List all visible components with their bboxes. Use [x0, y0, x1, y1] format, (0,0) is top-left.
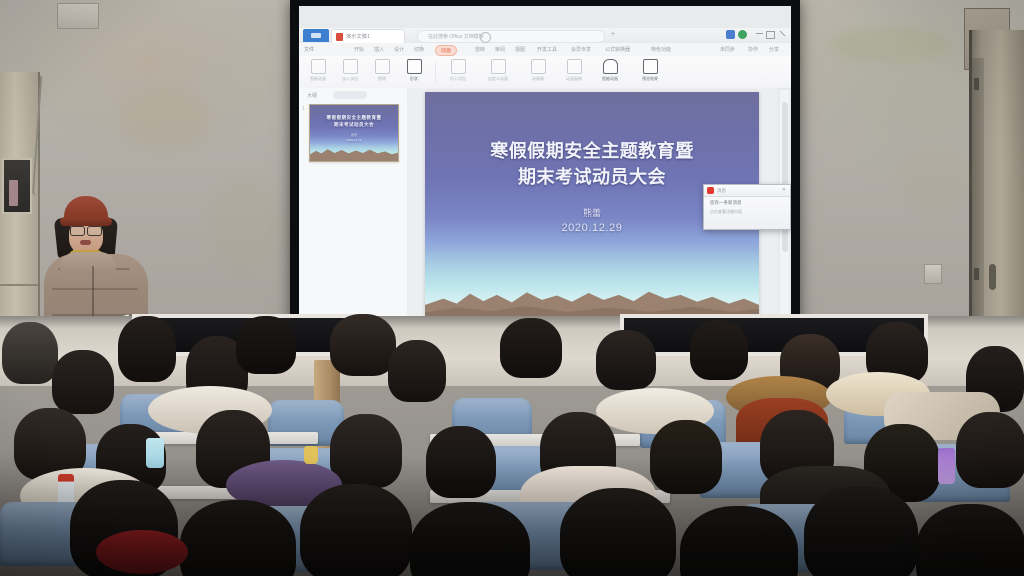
audience-head — [330, 314, 396, 376]
popup-title: 消息 — [717, 188, 726, 194]
coat-collar — [60, 252, 116, 274]
ribbon-button-smart-animation[interactable]: 智能动画 — [305, 59, 331, 82]
left-wall-cabinet — [0, 72, 40, 332]
presentation-file-icon — [336, 33, 343, 41]
hat-brim — [60, 217, 112, 226]
ribbon-tab-member[interactable]: 会员专享 — [571, 46, 591, 53]
thumbnail-date: 2020.12.29 — [310, 138, 398, 142]
cabinet-divider — [0, 284, 38, 286]
ribbon-tab-developer[interactable]: 开发工具 — [537, 46, 557, 53]
wall-light-switch — [924, 264, 942, 284]
ribbon-button-label: 智能动画 — [305, 76, 331, 82]
anim-brush-icon — [531, 59, 546, 74]
ribbon-button-animation-brush[interactable]: 动画刷 — [525, 59, 551, 82]
ribbon-button-preview[interactable]: 预览效果 — [637, 59, 663, 82]
slide-thumbnail-1[interactable]: 寒假假期安全主题教育暨 期末考试动员大会 熊蕾 2020.12.29 — [309, 104, 399, 162]
projected-desktop[interactable]: 演示文稿1 在此搜索 Office 文档模板 + 文件 开始 插入 设计 切换 … — [299, 6, 791, 350]
audience-head — [500, 318, 562, 378]
ribbon-tab-review[interactable]: 审阅 — [495, 46, 505, 53]
audience-head — [2, 322, 58, 384]
ribbon-body[interactable]: 智能动画 淡入淡出 擦除 形状 切入切出 自定义动画 — [299, 56, 791, 89]
ribbon-button-shape[interactable]: 形状 — [401, 59, 427, 82]
ribbon-tab-view[interactable]: 视图 — [515, 46, 525, 53]
thumbnail-slide-number: 1 — [302, 106, 305, 112]
ribbon-button-label: 形状 — [401, 76, 427, 82]
ribbon-tab-strip[interactable]: 文件 开始 插入 设计 切换 动画 放映 审阅 视图 开发工具 会员专享 公式转… — [299, 43, 791, 57]
template-search-box[interactable]: 在此搜索 Office 文档模板 — [417, 30, 605, 43]
ribbon-tab-design[interactable]: 设计 — [394, 46, 404, 53]
ribbon-button-animation-pane[interactable]: 动画窗格 — [561, 59, 587, 82]
shape-icon — [407, 59, 422, 74]
door-handle — [989, 264, 996, 290]
ribbon-tab-features[interactable]: 特色功能 — [651, 46, 671, 53]
ribbon-tab-file[interactable]: 文件 — [304, 46, 314, 53]
minimize-button[interactable] — [756, 33, 763, 34]
wipe-icon — [375, 59, 390, 74]
audience-head — [596, 330, 656, 390]
cut-icon — [451, 59, 466, 74]
ribbon-share[interactable]: 分享 — [769, 46, 779, 53]
popup-title-bar: 消息 ✕ — [704, 185, 790, 197]
template-search-placeholder: 在此搜索 Office 文档模板 — [428, 33, 484, 40]
foreground-shadow — [0, 456, 1024, 576]
wps-logo-icon — [303, 29, 329, 42]
cloud-sync-icon[interactable] — [738, 30, 747, 39]
ribbon-button-label: 自定义动画 — [485, 76, 511, 82]
maximize-button[interactable] — [766, 31, 775, 39]
popup-line-1: 您有一条新消息 — [710, 200, 742, 206]
preview-icon — [643, 59, 658, 74]
wall-vent-panel — [57, 3, 99, 29]
anim-pane-icon — [567, 59, 582, 74]
search-icon — [480, 32, 491, 43]
ribbon-button-custom-animation[interactable]: 自定义动画 — [485, 59, 511, 82]
wps-title-bar: 演示文稿1 在此搜索 Office 文档模板 + — [299, 28, 791, 44]
close-button[interactable] — [780, 31, 786, 37]
lecture-hall-photo: 演示文稿1 在此搜索 Office 文档模板 + 文件 开始 插入 设计 切换 … — [0, 0, 1024, 576]
lightbulb-icon — [603, 59, 618, 74]
thumbnail-presenter: 熊蕾 — [310, 133, 398, 137]
ribbon-button-label: 智能动画 — [597, 76, 623, 82]
ribbon-tab-animation[interactable]: 动画 — [435, 45, 457, 56]
document-tab-label: 演示文稿1 — [346, 33, 370, 40]
audience-head — [118, 316, 176, 382]
ribbon-button-label: 切入切出 — [445, 76, 471, 82]
ribbon-sync-status[interactable]: 未同步 — [720, 46, 735, 53]
magic-wand-icon — [311, 59, 326, 74]
ribbon-tab-transition[interactable]: 切换 — [414, 46, 424, 53]
account-icon[interactable] — [726, 30, 735, 39]
speaker-mouth — [80, 240, 91, 245]
thumbnail-title-line1: 寒假假期安全主题教育暨 — [310, 116, 398, 122]
document-tab[interactable]: 演示文稿1 — [331, 29, 405, 44]
ribbon-button-label: 动画窗格 — [561, 76, 587, 82]
ribbon-separator — [435, 62, 436, 82]
mountain-graphic — [310, 145, 398, 161]
door-hinge-top — [974, 78, 979, 90]
ribbon-button-label: 预览效果 — [637, 76, 663, 82]
glasses-icon — [70, 226, 102, 234]
ribbon-button-label: 动画刷 — [525, 76, 551, 82]
notification-popup[interactable]: 消息 ✕ 您有一条新消息 点击查看详细内容 — [703, 184, 791, 230]
door-frame — [972, 58, 984, 350]
new-tab-button[interactable]: + — [611, 31, 615, 39]
ribbon-tab-home[interactable]: 开始 — [354, 46, 364, 53]
popup-close-icon[interactable]: ✕ — [782, 188, 786, 193]
audience-head — [52, 350, 114, 414]
cabinet-object — [9, 180, 18, 206]
ribbon-button-wipe[interactable]: 擦除 — [369, 59, 395, 82]
audience-head — [388, 340, 446, 402]
thumbnail-title-line2: 期末考试动员大会 — [310, 123, 398, 129]
ribbon-button-cut[interactable]: 切入切出 — [445, 59, 471, 82]
door-hinge-bottom — [974, 268, 979, 280]
audience-head — [236, 316, 296, 374]
ribbon-button-fade[interactable]: 淡入淡出 — [337, 59, 363, 82]
ribbon-tab-formula[interactable]: 公式转换器 — [605, 46, 630, 53]
ribbon-button-label: 擦除 — [369, 76, 395, 82]
slides-tab-pill[interactable] — [333, 91, 367, 99]
ribbon-button-label: 淡入淡出 — [337, 76, 363, 82]
custom-anim-icon — [491, 59, 506, 74]
slide-title-line1: 寒假假期安全主题教育暨 — [425, 140, 759, 164]
qq-message-icon — [707, 187, 714, 194]
audience-head — [690, 320, 748, 380]
outline-tab-label[interactable]: 大纲 — [307, 92, 317, 99]
fade-icon — [343, 59, 358, 74]
ribbon-tab-insert[interactable]: 插入 — [374, 46, 384, 53]
ribbon-button-lightbulb[interactable]: 智能动画 — [597, 59, 623, 82]
ribbon-tab-slideshow[interactable]: 放映 — [475, 46, 485, 53]
popup-line-2: 点击查看详细内容 — [710, 209, 742, 215]
slide-thumbnail-pane[interactable]: 大纲 1 寒假假期安全主题教育暨 期末考试动员大会 熊蕾 2020.12.29 — [299, 88, 408, 328]
ribbon-collaborate[interactable]: 协作 — [748, 46, 758, 53]
